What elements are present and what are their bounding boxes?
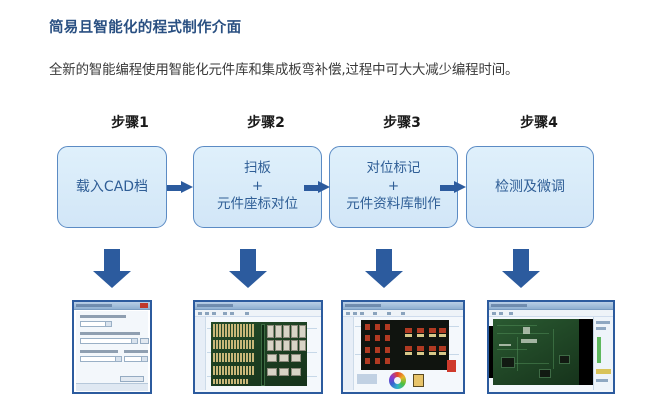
arrow-down-icon: [502, 249, 540, 289]
arrow-right-icon: [167, 181, 193, 194]
thumbnail-step-2[interactable]: [193, 300, 323, 394]
step-label-2: 步骤2: [193, 112, 339, 134]
step-label-3: 步骤3: [329, 112, 475, 134]
screenshot-thumbnail-row: [0, 300, 649, 400]
step-column-2: 步骤2: [193, 112, 339, 134]
page-title: 简易且智能化的程式制作介面: [49, 16, 241, 37]
arrow-down-icon: [93, 249, 131, 289]
process-box-4[interactable]: 检测及微调: [466, 146, 594, 228]
process-flow-diagram: 步骤1 步骤2 步骤3 步骤4 载入CAD档 扫板 + 元件座标对位 对位标记 …: [0, 112, 649, 252]
arrow-down-icon: [365, 249, 403, 289]
arrow-right-icon: [440, 181, 466, 194]
process-box-2-text: 扫板 + 元件座标对位: [213, 160, 302, 213]
arrow-down-icon: [229, 249, 267, 289]
arrow-right-icon: [304, 181, 330, 194]
process-box-1[interactable]: 载入CAD档: [57, 146, 167, 228]
process-box-4-text: 检测及微调: [491, 178, 569, 196]
page-subtitle: 全新的智能编程使用智能化元件库和集成板弯补偿,过程中可大大减少编程时间。: [49, 58, 518, 78]
thumbnail-step-4[interactable]: [487, 300, 615, 394]
step-column-1: 步骤1: [57, 112, 203, 134]
thumbnail-step-3[interactable]: [341, 300, 465, 394]
process-box-3[interactable]: 对位标记 + 元件资料库制作: [329, 146, 458, 228]
slide-page: 简易且智能化的程式制作介面 全新的智能编程使用智能化元件库和集成板弯补偿,过程中…: [0, 0, 649, 400]
process-box-2[interactable]: 扫板 + 元件座标对位: [193, 146, 322, 228]
step-column-4: 步骤4: [466, 112, 612, 134]
step-label-1: 步骤1: [57, 112, 203, 134]
color-swatch-icon: [413, 374, 424, 387]
process-box-1-text: 载入CAD档: [72, 178, 152, 196]
step-column-3: 步骤3: [329, 112, 475, 134]
step-label-4: 步骤4: [466, 112, 612, 134]
process-box-3-text: 对位标记 + 元件资料库制作: [342, 160, 445, 213]
thumbnail-step-1[interactable]: [72, 300, 152, 394]
color-wheel-icon: [389, 372, 406, 389]
